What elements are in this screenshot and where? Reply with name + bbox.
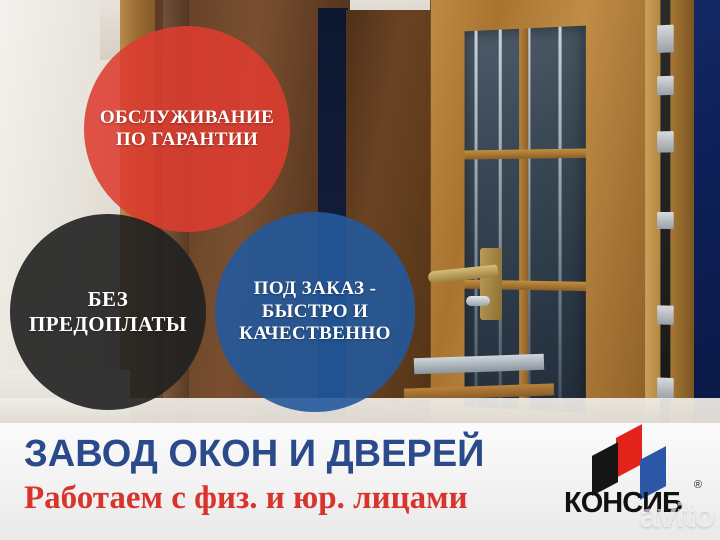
bubble-warranty-line-1: ОБСЛУЖИВАНИЕ	[100, 107, 274, 129]
door-handle-base	[480, 248, 502, 320]
glass-glint	[558, 27, 561, 412]
logo-mark-icon	[586, 431, 686, 489]
banner-subline: Работаем с физ. и юр. лицами	[24, 482, 484, 515]
muntin-vertical	[519, 28, 528, 410]
lock-cam	[657, 25, 674, 53]
bubble-no-prepayment[interactable]: БЕЗ ПРЕДОПЛАТЫ	[10, 214, 206, 410]
glass-glint	[499, 30, 502, 409]
lock-cam	[657, 131, 674, 153]
glass-glint	[475, 31, 478, 408]
bubble-warranty-text: ОБСЛУЖИВАНИЕ ПО ГАРАНТИИ	[100, 107, 274, 152]
banner-text-block: ЗАВОД ОКОН И ДВЕРЕЙ Работаем с физ. и юр…	[24, 435, 484, 515]
bubble-no-prepayment-line-1: БЕЗ	[29, 287, 187, 312]
bubble-custom-order-line-2: БЫСТРО И	[239, 301, 391, 323]
logo-wordmark: КОНСИБ	[564, 487, 704, 520]
bubble-custom-order-text: ПОД ЗАКАЗ - БЫСТРО И КАЧЕСТВЕННО	[239, 278, 391, 345]
bubble-warranty-line-2: ПО ГАРАНТИИ	[100, 129, 274, 151]
lock-cam	[657, 212, 674, 229]
advertisement-image: ОБСЛУЖИВАНИЕ ПО ГАРАНТИИ БЕЗ ПРЕДОПЛАТЫ …	[0, 0, 720, 540]
lock-cam	[657, 305, 674, 325]
bubble-warranty[interactable]: ОБСЛУЖИВАНИЕ ПО ГАРАНТИИ	[84, 26, 290, 232]
bottom-banner: ЗАВОД ОКОН И ДВЕРЕЙ Работаем с физ. и юр…	[0, 423, 720, 540]
lock-cam	[657, 377, 674, 399]
bubble-no-prepayment-text: БЕЗ ПРЕДОПЛАТЫ	[29, 287, 187, 337]
bubble-custom-order-line-1: ПОД ЗАКАЗ -	[239, 278, 391, 300]
bubble-custom-order-line-3: КАЧЕСТВЕННО	[239, 323, 391, 345]
banner-headline: ЗАВОД ОКОН И ДВЕРЕЙ	[24, 435, 484, 473]
registered-trademark-icon: ®	[694, 479, 702, 491]
lock-cam	[657, 76, 674, 96]
door-lock-keyhole	[466, 296, 490, 306]
leaf-edge	[645, 0, 694, 423]
company-logo[interactable]: КОНСИБ ®	[564, 431, 704, 535]
product-photo: ОБСЛУЖИВАНИЕ ПО ГАРАНТИИ БЕЗ ПРЕДОПЛАТЫ …	[0, 0, 720, 423]
muntin-horizontal	[465, 148, 586, 159]
lock-hardware-strip	[660, 0, 670, 423]
logo-parallelogram-red	[616, 424, 642, 478]
bubble-custom-order[interactable]: ПОД ЗАКАЗ - БЫСТРО И КАЧЕСТВЕННО	[215, 212, 415, 412]
bubble-no-prepayment-line-2: ПРЕДОПЛАТЫ	[29, 312, 187, 337]
